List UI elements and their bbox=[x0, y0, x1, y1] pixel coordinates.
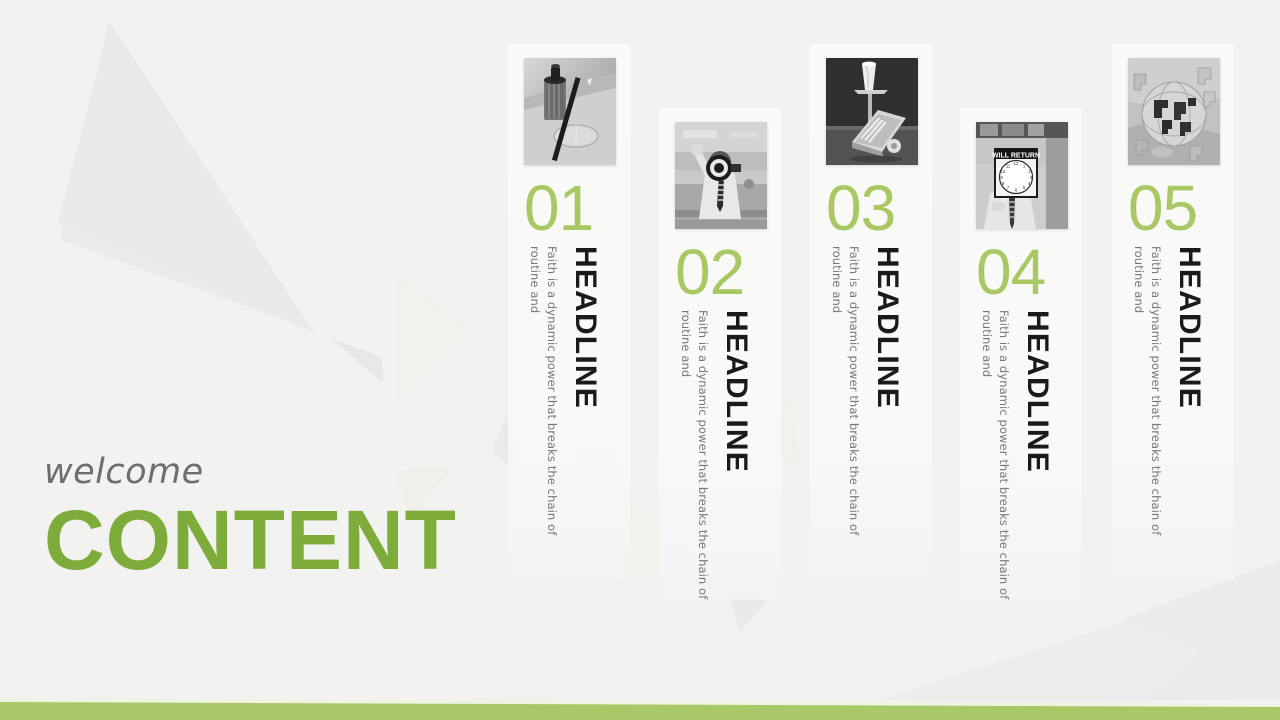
item-body: Faith is a dynamic power that breaks the… bbox=[678, 310, 711, 600]
item-headline: HEADLINE bbox=[719, 310, 753, 473]
svg-text:10: 10 bbox=[1001, 169, 1006, 174]
man-with-megaphone-photo bbox=[675, 122, 767, 229]
svg-text:WILL RETURN: WILL RETURN bbox=[992, 153, 1040, 160]
item-body: Faith is a dynamic power that breaks the… bbox=[829, 246, 862, 576]
pencil-cup-photo bbox=[524, 58, 616, 165]
item-text: HEADLINE Faith is a dynamic power that b… bbox=[810, 246, 932, 586]
laptop-with-paper-photo bbox=[826, 58, 918, 165]
item-number: 05 bbox=[1128, 176, 1197, 240]
item-body: Faith is a dynamic power that breaks the… bbox=[979, 310, 1012, 600]
content-columns: 01 HEADLINE Faith is a dynamic power tha… bbox=[492, 0, 1280, 720]
item-number: 02 bbox=[675, 240, 744, 304]
item-text: HEADLINE Faith is a dynamic power that b… bbox=[659, 310, 781, 600]
content-item-05[interactable]: 05 HEADLINE Faith is a dynamic power tha… bbox=[1112, 0, 1234, 600]
item-headline: HEADLINE bbox=[870, 246, 904, 409]
content-item-03[interactable]: 03 HEADLINE Faith is a dynamic power tha… bbox=[810, 0, 932, 600]
content-item-02[interactable]: 02 HEADLINE Faith is a dynamic power tha… bbox=[659, 0, 781, 600]
item-number: 04 bbox=[976, 240, 1045, 304]
item-text: HEADLINE Faith is a dynamic power that b… bbox=[1112, 246, 1234, 586]
item-body: Faith is a dynamic power that breaks the… bbox=[527, 246, 560, 576]
item-body: Faith is a dynamic power that breaks the… bbox=[1131, 246, 1164, 576]
item-number: 01 bbox=[524, 176, 593, 240]
item-headline: HEADLINE bbox=[1020, 310, 1054, 473]
title-block: welcome CONTENT bbox=[44, 455, 457, 584]
will-return-clock-sign-photo: WILL RETURN 121 23 45 67 89 1011 bbox=[976, 122, 1068, 229]
eyebrow-welcome: welcome bbox=[44, 455, 457, 490]
svg-text:12: 12 bbox=[1014, 161, 1019, 166]
item-text: HEADLINE Faith is a dynamic power that b… bbox=[508, 246, 630, 586]
item-headline: HEADLINE bbox=[1172, 246, 1206, 409]
svg-text:11: 11 bbox=[1006, 164, 1011, 169]
page-title: CONTENT bbox=[44, 496, 457, 584]
content-item-04[interactable]: WILL RETURN 121 23 45 67 89 1011 04 HEAD… bbox=[960, 0, 1082, 600]
puzzle-globe-photo bbox=[1128, 58, 1220, 165]
content-item-01[interactable]: 01 HEADLINE Faith is a dynamic power tha… bbox=[508, 0, 630, 600]
item-text: HEADLINE Faith is a dynamic power that b… bbox=[960, 310, 1082, 600]
item-headline: HEADLINE bbox=[568, 246, 602, 409]
item-number: 03 bbox=[826, 176, 895, 240]
